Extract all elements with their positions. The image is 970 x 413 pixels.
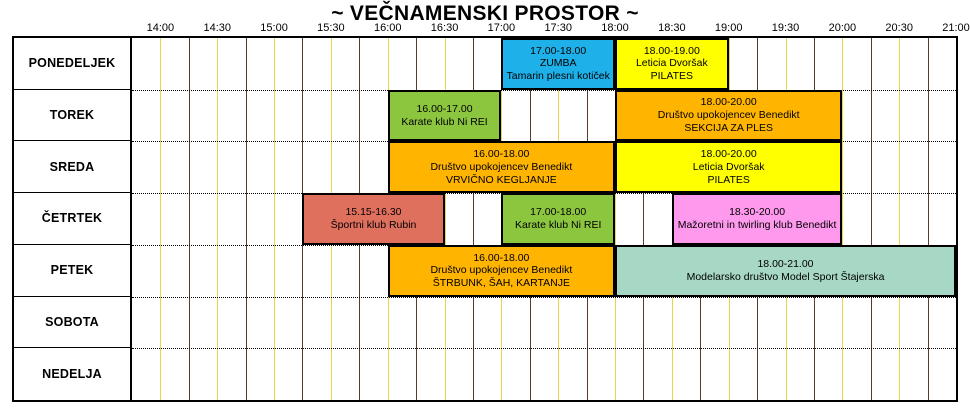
axis-tick-label: 18:00 xyxy=(601,22,629,34)
event-text: Karate klub Ni REI xyxy=(401,116,487,129)
grid-vline xyxy=(899,38,900,400)
event-time: 18.00-20.00 xyxy=(701,96,757,109)
axis-tick-label: 14:00 xyxy=(147,22,175,34)
event-text: Športni klub Rubin xyxy=(331,219,417,232)
event-time: 16.00-17.00 xyxy=(417,103,473,116)
grid-hline xyxy=(132,297,956,298)
schedule-event-block[interactable]: 18.00-20.00Društvo upokojencev BenediktS… xyxy=(615,90,842,142)
event-text: Društvo upokojencev Benedikt xyxy=(658,109,800,122)
event-text: ZUMBA xyxy=(540,57,577,70)
day-label: TOREK xyxy=(50,108,95,122)
event-text: Leticia Dvoršak xyxy=(693,161,765,174)
schedule-table: PONEDELJEKTOREKSREDAČETRTEKPETEKSOBOTANE… xyxy=(12,36,958,402)
schedule-page: ~ VEČNAMENSKI PROSTOR ~ 14:0014:3015:001… xyxy=(0,0,970,413)
axis-tick-label: 17:00 xyxy=(488,22,516,34)
grid-vline xyxy=(871,38,872,400)
grid-vline xyxy=(246,38,247,400)
schedule-event-block[interactable]: 18.00-21.00Modelarsko društvo Model Spor… xyxy=(615,245,956,297)
axis-tick-label: 18:30 xyxy=(658,22,686,34)
schedule-event-block[interactable]: 18.00-19.00Leticia DvoršakPILATES xyxy=(615,38,729,90)
axis-tick-label: 19:00 xyxy=(715,22,743,34)
schedule-event-block[interactable]: 16.00-18.00Društvo upokojencev BenediktV… xyxy=(388,141,615,193)
event-time: 18.30-20.00 xyxy=(729,206,785,219)
day-label-cell: PONEDELJEK xyxy=(14,38,130,90)
event-time: 18.00-21.00 xyxy=(757,258,813,271)
day-label: PONEDELJEK xyxy=(29,56,116,70)
event-text: Društvo upokojencev Benedikt xyxy=(430,264,572,277)
event-text: VRVIČNO KEGLJANJE xyxy=(446,174,557,187)
grid-hline xyxy=(132,348,956,349)
event-time: 18.00-20.00 xyxy=(701,148,757,161)
event-text: Mažoretni in twirling klub Benedikt xyxy=(678,219,837,232)
schedule-grid: 17.00-18.00ZUMBATamarin plesni kotiček18… xyxy=(132,38,956,400)
day-label-cell: ČETRTEK xyxy=(14,193,130,245)
event-time: 18.00-19.00 xyxy=(644,45,700,58)
event-text: ŠTRBUNK, ŠAH, KARTANJE xyxy=(433,277,570,290)
axis-tick-label: 19:30 xyxy=(772,22,800,34)
schedule-event-block[interactable]: 16.00-17.00Karate klub Ni REI xyxy=(388,90,502,142)
axis-tick-label: 20:30 xyxy=(885,22,913,34)
day-label: PETEK xyxy=(51,263,94,277)
event-time: 15.15-16.30 xyxy=(345,206,401,219)
schedule-event-block[interactable]: 15.15-16.30Športni klub Rubin xyxy=(302,193,444,245)
schedule-event-block[interactable]: 17.00-18.00Karate klub Ni REI xyxy=(501,193,615,245)
event-text: Leticia Dvoršak xyxy=(636,57,708,70)
day-label: ČETRTEK xyxy=(42,211,102,225)
event-text: PILATES xyxy=(651,70,693,83)
axis-tick-label: 20:00 xyxy=(829,22,857,34)
axis-tick-label: 14:30 xyxy=(203,22,231,34)
event-text: PILATES xyxy=(707,174,749,187)
schedule-event-block[interactable]: 18.00-20.00Leticia DvoršakPILATES xyxy=(615,141,842,193)
day-label-cell: NEDELJA xyxy=(14,348,130,400)
axis-tick-label: 15:00 xyxy=(260,22,288,34)
day-label: NEDELJA xyxy=(42,367,102,381)
event-text: Tamarin plesni kotiček xyxy=(507,70,610,83)
axis-tick-label: 16:00 xyxy=(374,22,402,34)
axis-tick-label: 16:30 xyxy=(431,22,459,34)
schedule-event-block[interactable]: 18.30-20.00Mažoretni in twirling klub Be… xyxy=(672,193,842,245)
schedule-event-block[interactable]: 16.00-18.00Društvo upokojencev BenediktŠ… xyxy=(388,245,615,297)
event-text: Društvo upokojencev Benedikt xyxy=(430,161,572,174)
event-time: 17.00-18.00 xyxy=(530,206,586,219)
day-label-cell: TOREK xyxy=(14,90,130,142)
grid-vline xyxy=(189,38,190,400)
grid-vline xyxy=(928,38,929,400)
event-text: SEKCIJA ZA PLES xyxy=(684,122,773,135)
day-label-column: PONEDELJEKTOREKSREDAČETRTEKPETEKSOBOTANE… xyxy=(14,38,132,400)
grid-vline xyxy=(274,38,275,400)
event-time: 17.00-18.00 xyxy=(530,45,586,58)
day-label-cell: SOBOTA xyxy=(14,297,130,349)
event-time: 16.00-18.00 xyxy=(473,252,529,265)
axis-tick-label: 21:00 xyxy=(942,22,970,34)
grid-vline xyxy=(217,38,218,400)
axis-tick-label: 17:30 xyxy=(544,22,572,34)
schedule-event-block[interactable]: 17.00-18.00ZUMBATamarin plesni kotiček xyxy=(501,38,615,90)
day-label: SOBOTA xyxy=(45,315,99,329)
day-label-cell: SREDA xyxy=(14,141,130,193)
day-label-cell: PETEK xyxy=(14,245,130,297)
event-time: 16.00-18.00 xyxy=(473,148,529,161)
event-text: Modelarsko društvo Model Sport Štajerska xyxy=(687,271,885,284)
day-label: SREDA xyxy=(50,160,95,174)
event-text: Karate klub Ni REI xyxy=(515,219,601,232)
axis-tick-label: 15:30 xyxy=(317,22,345,34)
grid-vline xyxy=(160,38,161,400)
time-axis: 14:0014:3015:0015:3016:0016:3017:0017:30… xyxy=(0,22,970,36)
